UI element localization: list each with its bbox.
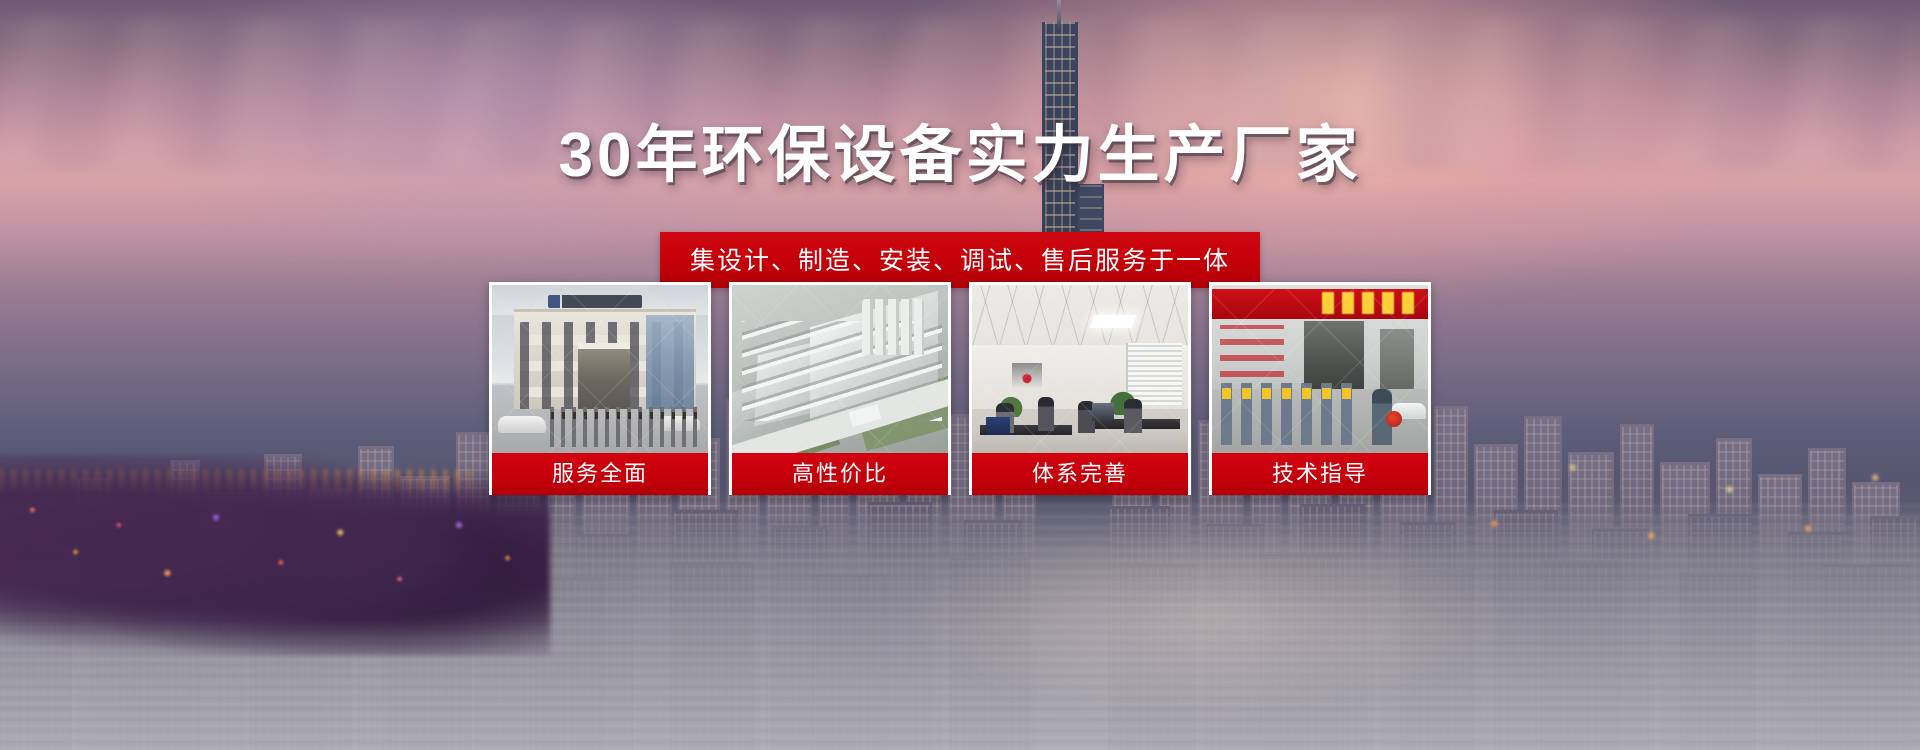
factory-workers-photo: [1212, 285, 1428, 453]
industrial-plant-aerial-photo: [732, 285, 948, 453]
feature-card[interactable]: 服务全面: [489, 282, 711, 495]
feature-card-label: 服务全面: [492, 453, 708, 495]
banner-subtitle-bar: 集设计、制造、安装、调试、售后服务于一体: [660, 232, 1260, 288]
feature-card[interactable]: 体系完善: [969, 282, 1191, 495]
office-building-staff-photo: [492, 285, 708, 453]
factory-red-banner: [1212, 289, 1428, 319]
safety-helmet-row: [1218, 388, 1358, 399]
company-logo-sign: [548, 295, 642, 308]
office-interior-staff-photo: [972, 285, 1188, 453]
feature-card-label: 高性价比: [732, 453, 948, 495]
feature-card-list: 服务全面 高性价比: [489, 282, 1431, 495]
banner-content: 30年环保设备实力生产厂家 集设计、制造、安装、调试、售后服务于一体: [0, 0, 1920, 750]
banner-headline: 30年环保设备实力生产厂家: [0, 104, 1920, 194]
feature-card[interactable]: 高性价比: [729, 282, 951, 495]
feature-card[interactable]: 技术指导: [1209, 282, 1431, 495]
feature-card-label: 技术指导: [1212, 453, 1428, 495]
hero-banner: 30年环保设备实力生产厂家 集设计、制造、安装、调试、售后服务于一体: [0, 0, 1920, 750]
feature-card-label: 体系完善: [972, 453, 1188, 495]
